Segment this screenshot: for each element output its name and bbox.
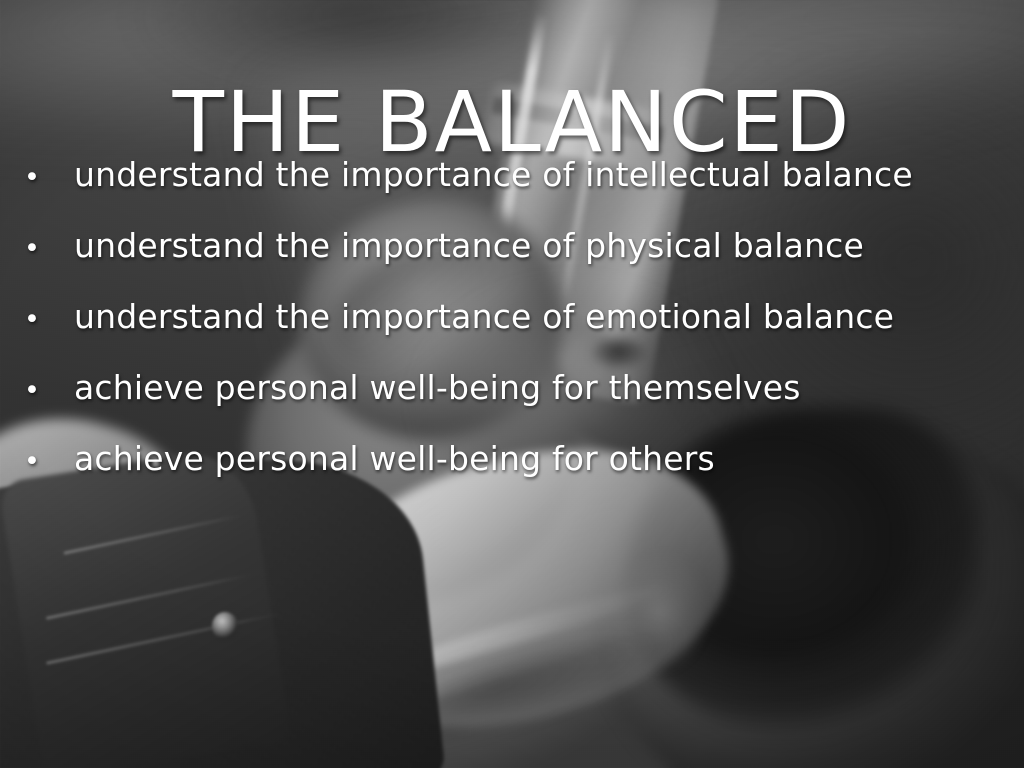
list-item: • achieve personal well-being for others	[18, 442, 1000, 513]
slide-title: THE BALANCED	[0, 80, 1024, 164]
bullet-point-icon: •	[18, 235, 74, 262]
list-item-label: achieve personal well-being for others	[74, 442, 715, 475]
bullet-point-icon: •	[18, 448, 74, 475]
list-item-label: understand the importance of emotional b…	[74, 300, 894, 333]
bullet-point-icon: •	[18, 164, 74, 191]
list-item-label: achieve personal well-being for themselv…	[74, 371, 801, 404]
list-item-label: understand the importance of physical ba…	[74, 229, 864, 262]
objective-list: • understand the importance of intellect…	[18, 158, 1000, 513]
list-item: • understand the importance of physical …	[18, 229, 1000, 300]
list-item-label: understand the importance of intellectua…	[74, 158, 913, 191]
list-item: • understand the importance of emotional…	[18, 300, 1000, 371]
bullet-point-icon: •	[18, 377, 74, 404]
slide-content: THE BALANCED • understand the importance…	[0, 0, 1024, 768]
bullet-point-icon: •	[18, 306, 74, 333]
list-item: • understand the importance of intellect…	[18, 158, 1000, 229]
list-item: • achieve personal well-being for themse…	[18, 371, 1000, 442]
presentation-slide: THE BALANCED • understand the importance…	[0, 0, 1024, 768]
